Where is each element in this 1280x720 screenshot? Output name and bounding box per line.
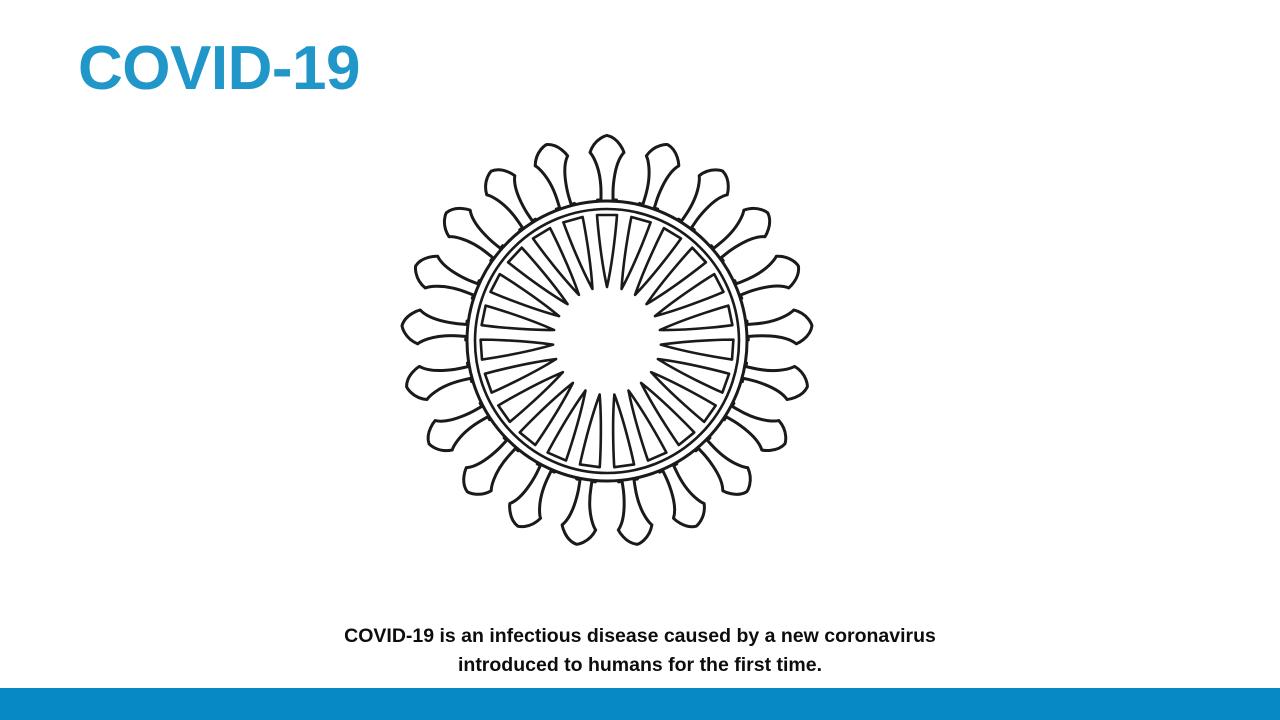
spike-12 [562,472,596,544]
coronavirus-illustration [372,104,842,578]
spike-7 [736,362,808,400]
footer-accent-bar [0,688,1280,720]
caption-block: COVID-19 is an infectious disease caused… [0,622,1280,680]
spike-6 [740,310,812,344]
coronavirus-svg [372,104,842,578]
spike-11 [618,472,652,544]
caption-line-1: COVID-19 is an infectious disease caused… [0,622,1280,651]
spike-1 [590,135,624,207]
page-title: COVID-19 [78,38,360,100]
spike-17 [402,310,474,344]
caption-line-2: introduced to humans for the first time. [0,651,1280,680]
spike-16 [407,362,479,400]
slide-canvas: COVID-19 COVID-19 is an infectious disea… [0,0,1280,720]
